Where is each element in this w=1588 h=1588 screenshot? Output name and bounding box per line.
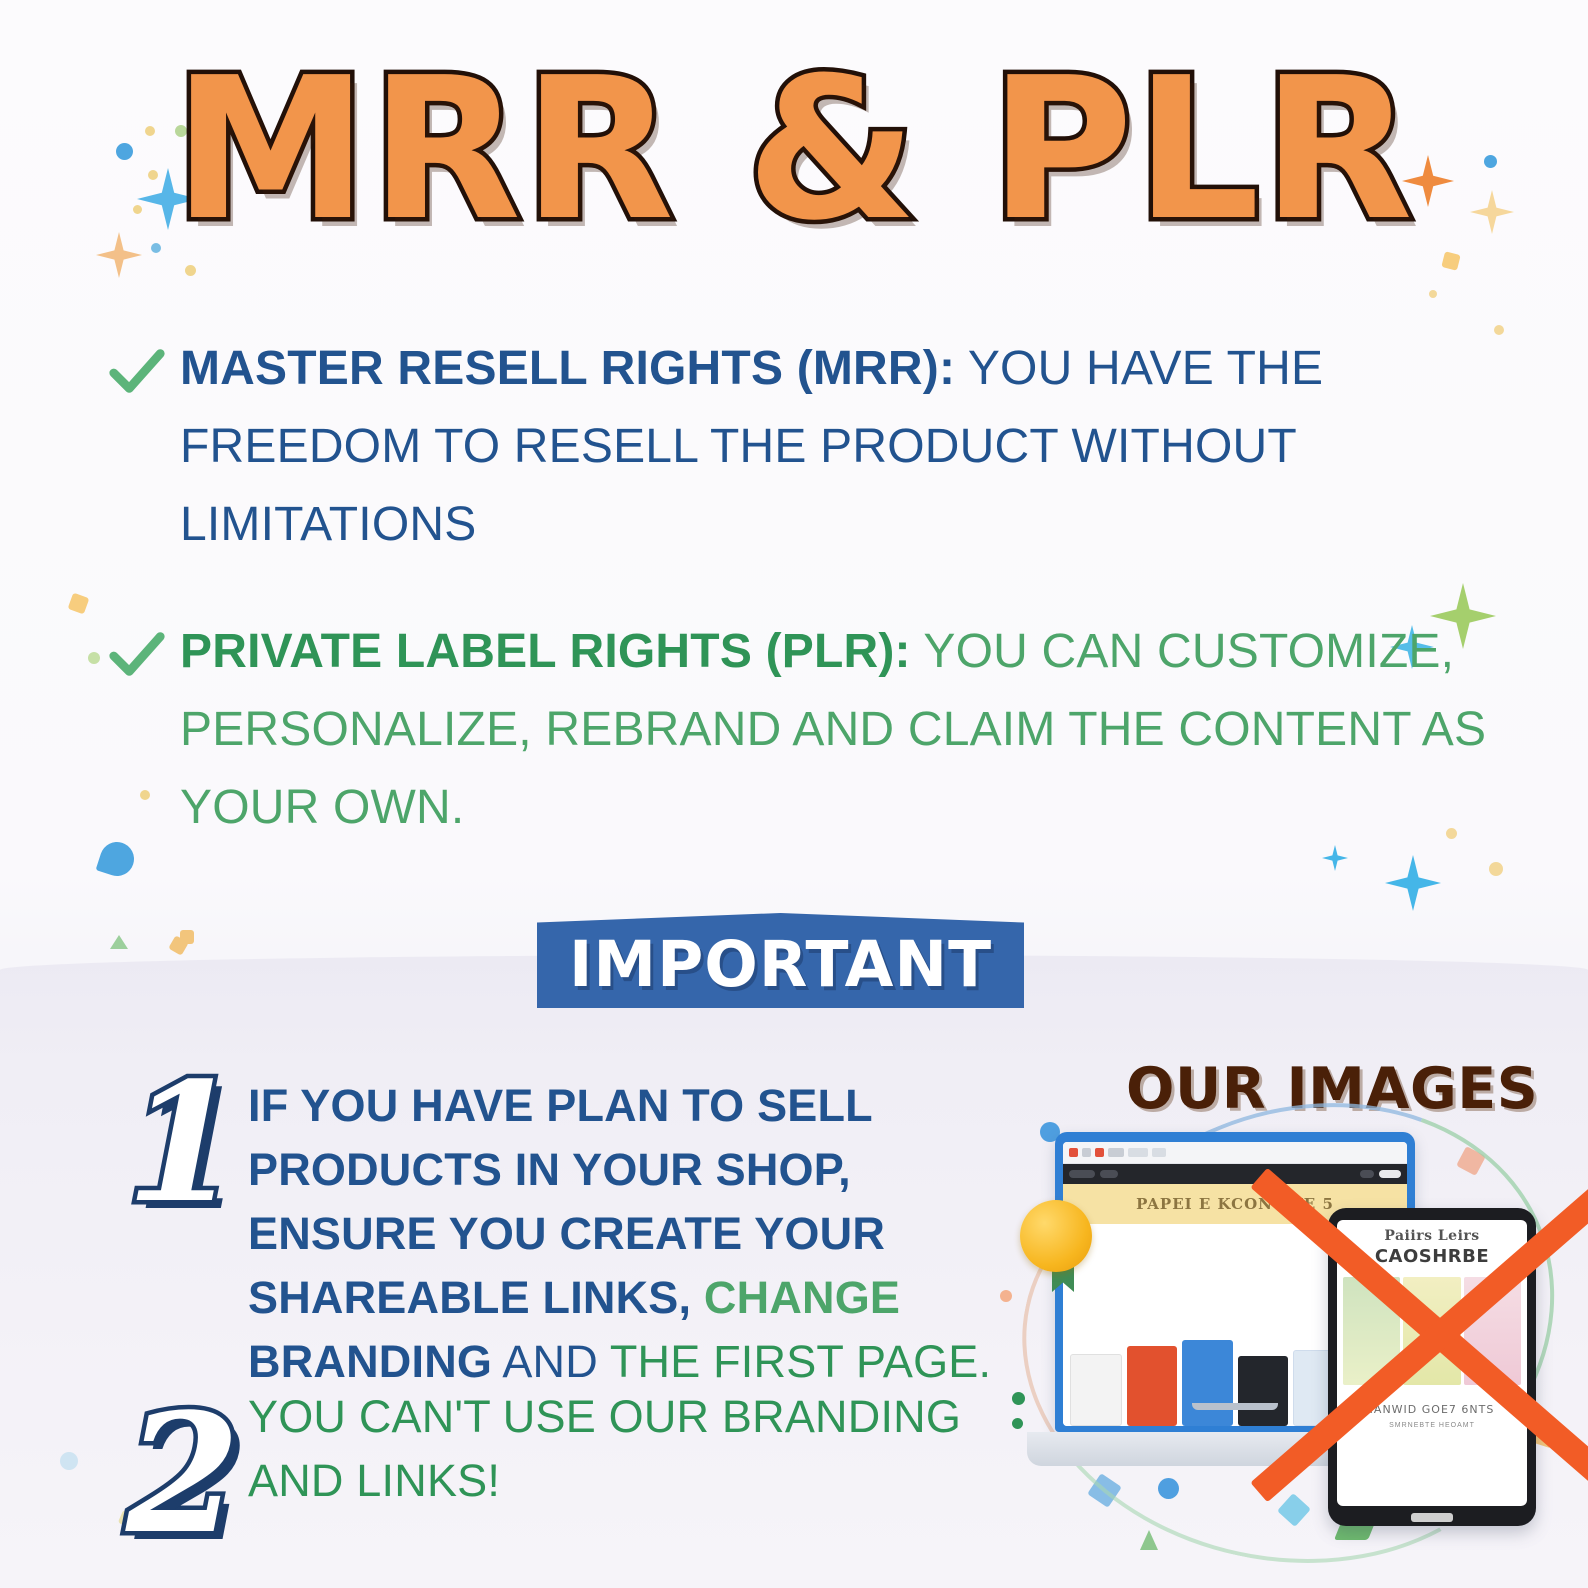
bullet-text-mrr: MASTER RESELL RIGHTS (MRR): YOU HAVE THE… xyxy=(180,330,1506,565)
gold-seal-badge-icon xyxy=(1020,1200,1092,1272)
numbered-item-2-text: YOU CAN'T USE OUR BRANDING AND LINKS! xyxy=(248,1377,1018,1513)
infographic-poster: MRR & PLR MASTER RESELL RIGHTS (MRR): YO… xyxy=(0,0,1588,1588)
toolbar-icon xyxy=(1095,1148,1104,1157)
confetti-triangle xyxy=(110,935,128,949)
numbered-item-1-text: IF YOU HAVE PLAN TO SELL PRODUCTS IN YOU… xyxy=(248,1058,1018,1393)
laptop-trackpad-notch xyxy=(1192,1403,1278,1410)
toolbar-icon xyxy=(1152,1148,1166,1157)
numeral-2: 2 xyxy=(118,1395,248,1552)
confetti-square xyxy=(168,935,188,955)
red-cross-out-icon xyxy=(1280,1120,1588,1550)
confetti-square xyxy=(180,930,194,944)
num1-seg2: CHANGE xyxy=(691,1272,900,1323)
bullet-lead-mrr: MASTER RESELL RIGHTS (MRR): xyxy=(180,342,955,395)
important-banner-label: IMPORTANT xyxy=(569,928,992,1001)
bullet-text-plr: PRIVATE LABEL RIGHTS (PLR): YOU CAN CUST… xyxy=(180,613,1506,848)
toolbar-icon xyxy=(1069,1148,1078,1157)
content-card xyxy=(1182,1340,1232,1426)
confetti-square xyxy=(1441,251,1460,270)
toolbar-icon xyxy=(1082,1148,1091,1157)
confetti-dot xyxy=(88,652,100,664)
content-card xyxy=(1070,1354,1122,1426)
confetti-dot xyxy=(185,265,196,276)
numbered-item-2: 2 YOU CAN'T USE OUR BRANDING AND LINKS! xyxy=(118,1377,1018,1552)
bullet-lead-plr: PRIVATE LABEL RIGHTS (PLR): xyxy=(180,625,911,678)
numeral-1: 1 xyxy=(118,1064,248,1221)
check-icon xyxy=(106,340,172,407)
toolbar-icon xyxy=(1108,1148,1124,1157)
address-pill xyxy=(1100,1170,1118,1178)
device-mockup-group: PAPEI E KCON RYE 5 xyxy=(1010,1100,1588,1570)
important-banner: IMPORTANT xyxy=(537,913,1024,1008)
page-title: MRR & PLR xyxy=(173,52,1415,248)
bullet-item-plr: PRIVATE LABEL RIGHTS (PLR): YOU CAN CUST… xyxy=(106,613,1506,848)
toolbar-icon xyxy=(1128,1148,1148,1157)
check-icon xyxy=(106,623,172,690)
bullet-item-mrr: MASTER RESELL RIGHTS (MRR): YOU HAVE THE… xyxy=(106,330,1506,565)
rights-bullet-list: MASTER RESELL RIGHTS (MRR): YOU HAVE THE… xyxy=(106,330,1506,889)
content-card xyxy=(1127,1346,1177,1426)
poster-title-wrapper: MRR & PLR xyxy=(0,52,1588,248)
confetti-square xyxy=(68,593,90,615)
confetti-dot xyxy=(1429,290,1437,298)
important-numbered-list: 1 IF YOU HAVE PLAN TO SELL PRODUCTS IN Y… xyxy=(118,1058,1018,1553)
address-pill xyxy=(1069,1170,1095,1178)
numbered-item-1: 1 IF YOU HAVE PLAN TO SELL PRODUCTS IN Y… xyxy=(118,1058,1018,1393)
